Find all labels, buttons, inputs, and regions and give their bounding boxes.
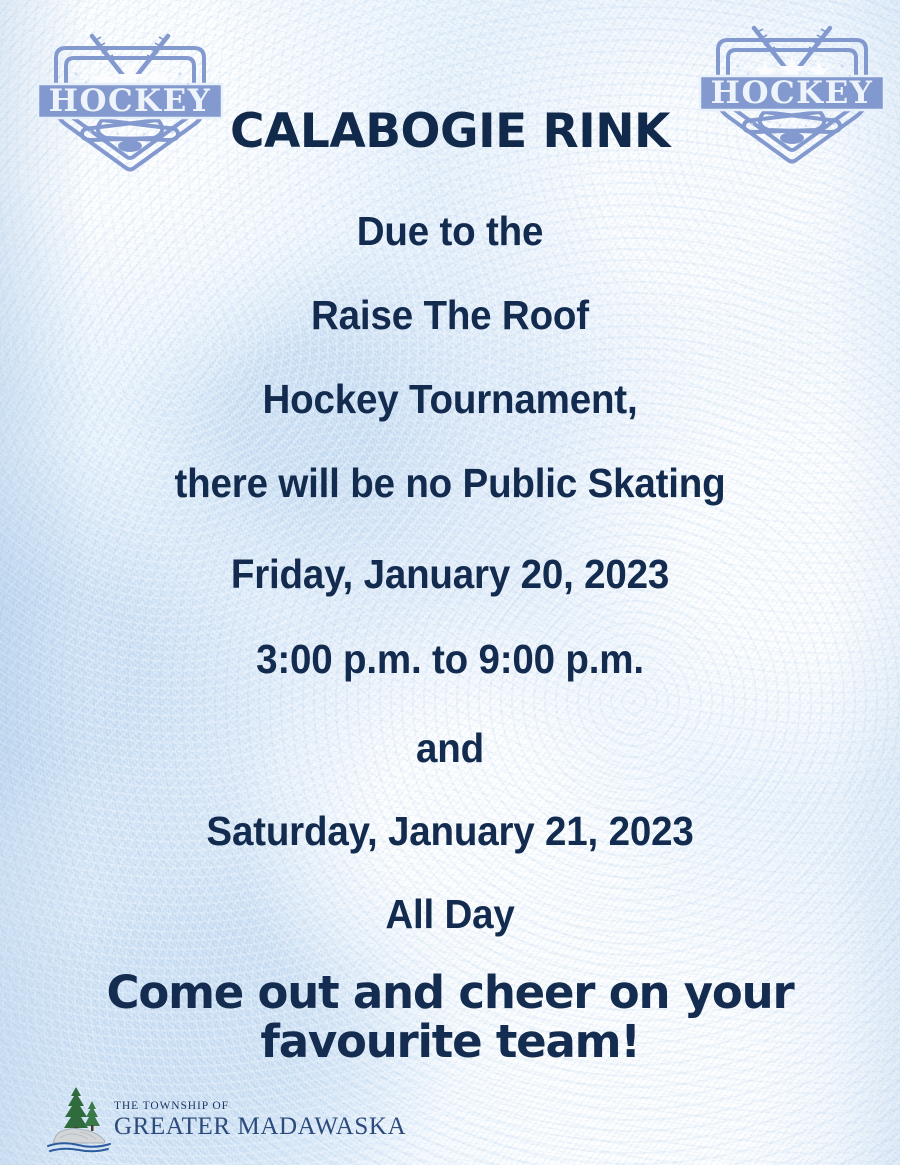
- notice-line-and: and: [27, 728, 873, 769]
- poster-title: CALABOGIE RINK: [0, 108, 900, 155]
- notice-line-friday-time: 3:00 p.m. to 9:00 p.m.: [27, 639, 873, 680]
- notice-line-all-day: All Day: [27, 894, 873, 935]
- closing-call-to-action: Come out and cheer on your favourite tea…: [0, 969, 900, 1066]
- township-tagline: THE TOWNSHIP OF: [114, 1101, 406, 1113]
- notice-line-event-type: Hockey Tournament,: [27, 379, 873, 420]
- notice-line-event-name: Raise The Roof: [27, 295, 873, 336]
- township-wordmark: THE TOWNSHIP OF GREATER MADAWASKA: [114, 1101, 406, 1154]
- pine-tree-rock-icon: [46, 1083, 112, 1153]
- township-logo: THE TOWNSHIP OF GREATER MADAWASKA: [46, 1081, 406, 1153]
- township-name: GREATER MADAWASKA: [114, 1114, 406, 1139]
- notice-line-friday-date: Friday, January 20, 2023: [27, 554, 873, 595]
- notice-line-saturday-date: Saturday, January 21, 2023: [27, 811, 873, 852]
- notice-line-no-public-skating: there will be no Public Skating: [27, 463, 873, 504]
- notice-line-due: Due to the: [27, 211, 873, 252]
- poster-canvas: HOCKEY: [0, 0, 900, 1165]
- poster-text-block: CALABOGIE RINK Due to the Raise The Roof…: [0, 0, 900, 1066]
